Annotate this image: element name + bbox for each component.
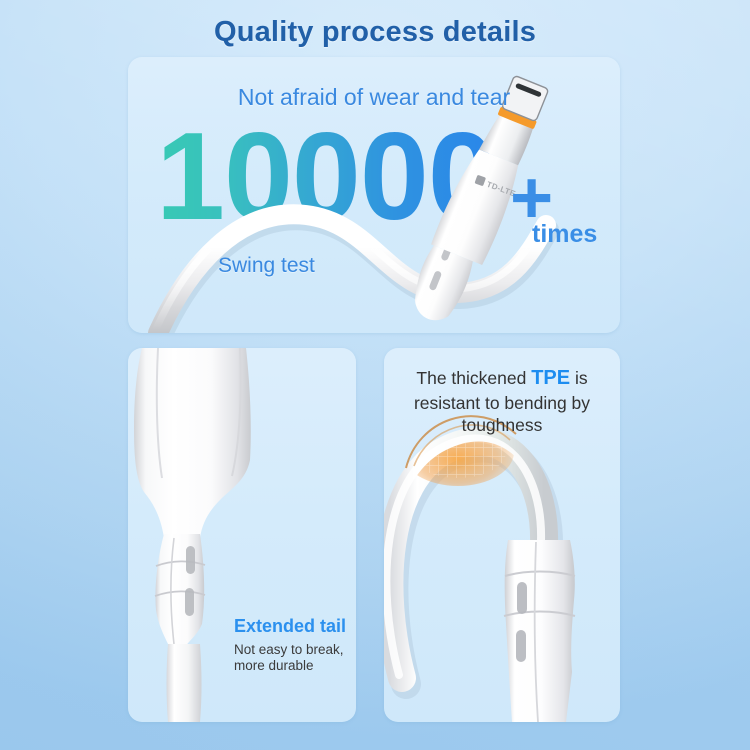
connector-strain-relief <box>405 244 475 327</box>
tail-rib-1 <box>156 561 205 566</box>
extended-tail-title: Extended tail <box>234 616 346 637</box>
swing-test-panel: 10000 <box>128 57 620 333</box>
bent-cable-highlight <box>386 439 541 675</box>
tail-rib-2 <box>155 591 205 596</box>
tail-slot-lower <box>185 588 194 616</box>
housing-seam-left <box>157 348 162 478</box>
cable-cord <box>167 644 202 722</box>
bent-cable-body <box>389 442 544 678</box>
panel-top-heading: Not afraid of wear and tear <box>128 84 620 111</box>
housing-seam-right <box>232 348 241 476</box>
extended-tail-body <box>155 534 204 648</box>
swing-count-number: 10000 <box>156 115 496 239</box>
connector-slot-lower <box>428 270 442 291</box>
swing-test-caption: Swing test <box>218 254 315 278</box>
extended-tail-panel: Extended tail Not easy to break, more du… <box>128 348 356 722</box>
tail-rib-vertical <box>171 538 174 644</box>
times-unit: times <box>532 220 597 249</box>
connector-slot-top <box>517 582 527 614</box>
connector-ring-1 <box>505 572 575 577</box>
connector-upper-housing <box>134 348 251 538</box>
page-title: Quality process details <box>0 11 750 53</box>
connector-housing <box>505 540 575 722</box>
connector-seam <box>535 542 538 722</box>
bend-shadow <box>393 448 548 684</box>
extended-tail-subtitle: Not easy to break, more durable <box>234 642 354 675</box>
tpe-text-before: The thickened <box>416 368 531 388</box>
connector-slot-bottom <box>516 630 526 662</box>
tpe-description: The thickened TPE is resistant to bendin… <box>392 366 612 436</box>
tpe-bending-panel: The thickened TPE is resistant to bendin… <box>384 348 620 722</box>
infographic-canvas: Quality process details 10000 <box>0 0 750 750</box>
cable-connector <box>504 540 575 722</box>
connector-ring-2 <box>504 612 575 617</box>
tpe-highlight: TPE <box>531 367 570 389</box>
tail-slot-upper <box>186 546 195 574</box>
